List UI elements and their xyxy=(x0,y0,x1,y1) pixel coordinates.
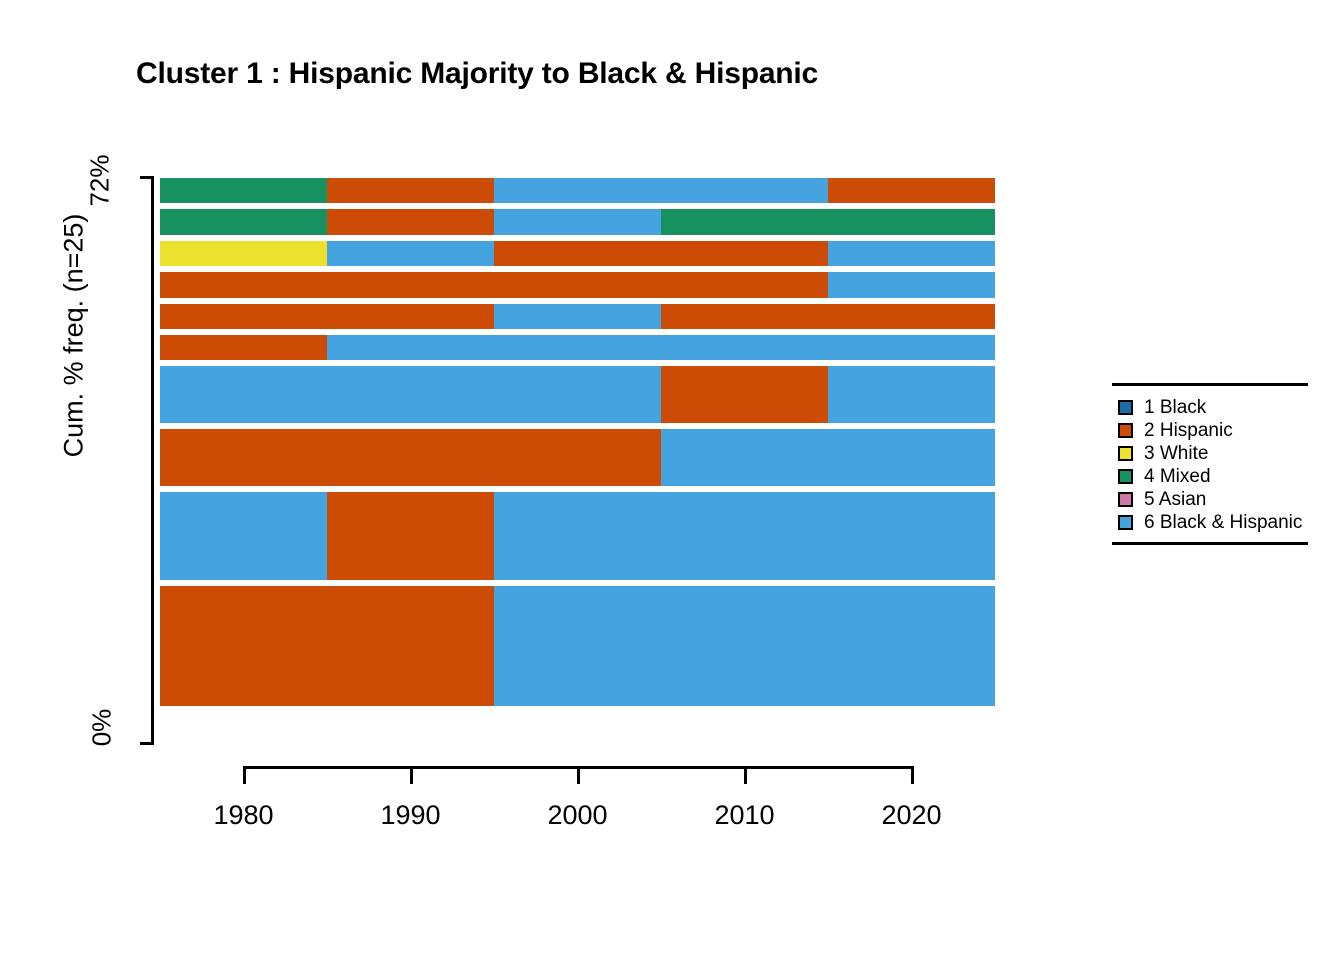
sequence-segment xyxy=(160,586,327,706)
sequence-segment xyxy=(327,209,494,234)
sequence-segment xyxy=(494,241,661,266)
sequence-segment xyxy=(828,335,995,360)
x-axis-tick xyxy=(243,766,246,784)
y-axis-line xyxy=(151,176,154,745)
sequence-segment xyxy=(327,586,494,706)
sequence-segment xyxy=(828,178,995,203)
legend-item-label: 1 Black xyxy=(1144,397,1206,419)
legend-swatch-icon xyxy=(1118,423,1133,438)
legend-swatch-icon xyxy=(1118,515,1133,530)
sequence-segment xyxy=(661,335,828,360)
y-tick-label-bottom: 0% xyxy=(87,698,118,758)
sequence-segment xyxy=(494,586,661,706)
sequence-segment xyxy=(661,304,828,329)
sequence-segment xyxy=(327,429,494,486)
sequence-segment xyxy=(661,366,828,423)
sequence-segment xyxy=(494,429,661,486)
legend-item[interactable]: 4 Mixed xyxy=(1118,465,1308,488)
sequence-segment xyxy=(160,335,327,360)
legend: 1 Black2 Hispanic3 White4 Mixed5 Asian6 … xyxy=(1112,383,1308,545)
sequence-segment xyxy=(828,209,995,234)
sequence-bar-row xyxy=(160,209,995,234)
sequence-segment xyxy=(327,492,494,580)
legend-item[interactable]: 6 Black & Hispanic xyxy=(1118,511,1308,534)
sequence-segment xyxy=(160,304,327,329)
y-axis-cap-top xyxy=(140,176,154,179)
sequence-segment xyxy=(327,335,494,360)
legend-swatch-icon xyxy=(1118,492,1133,507)
legend-item[interactable]: 1 Black xyxy=(1118,396,1308,419)
sequence-bar-row xyxy=(160,586,995,706)
sequence-segment xyxy=(828,272,995,297)
sequence-segment xyxy=(828,241,995,266)
sequence-plot-area xyxy=(160,178,995,743)
sequence-segment xyxy=(661,209,828,234)
legend-item[interactable]: 2 Hispanic xyxy=(1118,419,1308,442)
sequence-bar-row xyxy=(160,178,995,203)
sequence-bar-row xyxy=(160,304,995,329)
legend-swatch-icon xyxy=(1118,400,1133,415)
sequence-bar-row xyxy=(160,366,995,423)
page-title: Cluster 1 : Hispanic Majority to Black &… xyxy=(136,57,818,91)
sequence-segment xyxy=(494,366,661,423)
sequence-segment xyxy=(494,492,661,580)
x-axis-tick xyxy=(410,766,413,784)
sequence-segment xyxy=(327,366,494,423)
sequence-segment xyxy=(494,272,661,297)
legend-item-label: 4 Mixed xyxy=(1144,466,1211,488)
x-tick-label: 2010 xyxy=(685,800,805,831)
chart-canvas: Cluster 1 : Hispanic Majority to Black &… xyxy=(0,0,1344,960)
sequence-segment xyxy=(494,304,661,329)
sequence-bar-row xyxy=(160,429,995,486)
legend-item[interactable]: 3 White xyxy=(1118,442,1308,465)
sequence-segment xyxy=(494,209,661,234)
sequence-bar-row xyxy=(160,335,995,360)
sequence-segment xyxy=(494,178,661,203)
sequence-segment xyxy=(160,366,327,423)
legend-item[interactable]: 5 Asian xyxy=(1118,488,1308,511)
x-axis-tick xyxy=(577,766,580,784)
sequence-segment xyxy=(327,304,494,329)
x-tick-label: 2000 xyxy=(518,800,638,831)
legend-item-label: 3 White xyxy=(1144,443,1208,465)
legend-swatch-icon xyxy=(1118,469,1133,484)
x-axis-tick xyxy=(911,766,914,784)
sequence-segment xyxy=(494,335,661,360)
x-tick-label: 1980 xyxy=(184,800,304,831)
sequence-segment xyxy=(327,178,494,203)
sequence-segment xyxy=(160,178,327,203)
legend-item-label: 6 Black & Hispanic xyxy=(1144,512,1302,534)
sequence-bar-row xyxy=(160,241,995,266)
sequence-segment xyxy=(661,178,828,203)
sequence-segment xyxy=(327,272,494,297)
sequence-bar-row xyxy=(160,492,995,580)
x-axis-tick xyxy=(744,766,747,784)
legend-item-label: 5 Asian xyxy=(1144,489,1206,511)
sequence-segment xyxy=(661,272,828,297)
sequence-segment xyxy=(828,586,995,706)
legend-swatch-icon xyxy=(1118,446,1133,461)
sequence-segment xyxy=(661,586,828,706)
sequence-segment xyxy=(828,492,995,580)
y-axis-cap-bottom xyxy=(140,742,154,745)
sequence-segment xyxy=(828,429,995,486)
sequence-segment xyxy=(661,241,828,266)
x-tick-label: 2020 xyxy=(852,800,972,831)
sequence-segment xyxy=(661,429,828,486)
sequence-segment xyxy=(160,272,327,297)
sequence-segment xyxy=(828,304,995,329)
sequence-segment xyxy=(160,209,327,234)
y-axis-title: Cum. % freq. (n=25) xyxy=(59,206,90,466)
sequence-segment xyxy=(661,492,828,580)
sequence-segment xyxy=(160,492,327,580)
legend-bottom-rule xyxy=(1112,542,1308,545)
y-tick-label-top: 72% xyxy=(85,151,116,211)
sequence-segment xyxy=(160,429,327,486)
sequence-segment xyxy=(828,366,995,423)
legend-item-label: 2 Hispanic xyxy=(1144,420,1233,442)
x-tick-label: 1990 xyxy=(351,800,471,831)
legend-items: 1 Black2 Hispanic3 White4 Mixed5 Asian6 … xyxy=(1112,386,1308,542)
sequence-segment xyxy=(327,241,494,266)
legend-items-clip: 1 Black2 Hispanic3 White4 Mixed5 Asian6 … xyxy=(1112,386,1308,542)
sequence-bar-row xyxy=(160,272,995,297)
sequence-segment xyxy=(160,241,327,266)
